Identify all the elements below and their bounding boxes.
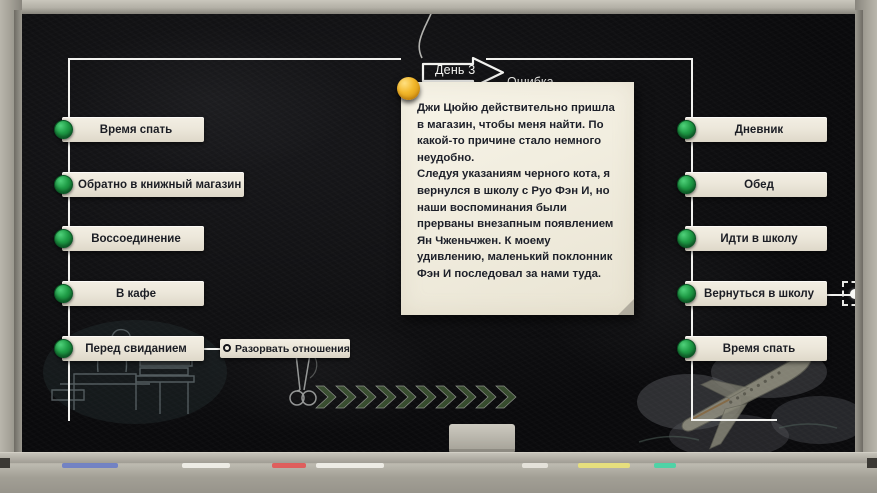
day-tag-label: День 3 xyxy=(435,63,475,77)
node-status-dot-icon xyxy=(677,284,696,303)
node-label: Время спать xyxy=(685,343,827,355)
hanging-string xyxy=(404,14,464,62)
board-frame-left-bevel xyxy=(14,10,22,460)
node-label: Время спать xyxy=(62,124,204,136)
chalk-ledge xyxy=(0,452,877,493)
node-status-dot-icon xyxy=(54,339,73,358)
node-label: В кафе xyxy=(62,288,204,300)
board-frame-right-bevel xyxy=(855,10,863,460)
chalk-blue[interactable] xyxy=(62,463,118,468)
board-frame-top xyxy=(0,0,877,14)
node-left-3[interactable]: Воссоединение xyxy=(62,226,204,251)
node-left-1[interactable]: Время спать xyxy=(62,117,204,142)
chalk-drawing-chevrons xyxy=(312,382,527,412)
node-label: Обратно в книжный магазин xyxy=(62,179,244,191)
radio-unselected-icon xyxy=(223,344,231,352)
branch-option-break-up[interactable]: Разорвать отношения xyxy=(220,339,350,358)
node-left-4[interactable]: В кафе xyxy=(62,281,204,306)
flow-line-top-right xyxy=(486,58,693,60)
chalk-drawing-scissors xyxy=(280,350,326,408)
node-status-dot-icon xyxy=(677,339,696,358)
flow-line-top-left xyxy=(68,58,401,60)
chalk-white2[interactable] xyxy=(316,463,384,468)
node-right-3[interactable]: Идти в школу xyxy=(685,226,827,251)
node-label: Воссоединение xyxy=(62,233,204,245)
chalk-smudge xyxy=(202,314,442,434)
memory-note-panel: Джи Цюйю действительно пришла в магазин,… xyxy=(401,82,634,315)
node-label: Дневник xyxy=(685,124,827,136)
board-eraser[interactable] xyxy=(449,424,515,452)
board-frame-right xyxy=(855,0,877,460)
chalk-ledge-lip xyxy=(0,452,877,463)
node-status-dot-icon xyxy=(677,175,696,194)
node-label: Обед xyxy=(685,179,827,191)
chalk-yellow[interactable] xyxy=(578,463,630,468)
locked-node-slot[interactable] xyxy=(842,281,855,306)
flow-line-right-foot xyxy=(691,419,777,421)
branch-option-label: Разорвать отношения xyxy=(220,343,350,355)
chalk-teal[interactable] xyxy=(654,463,676,468)
memory-note-text: Джи Цюйю действительно пришла в магазин,… xyxy=(417,100,618,283)
node-status-dot-icon xyxy=(677,120,696,139)
chalk-smudge xyxy=(62,24,362,174)
node-status-dot-icon xyxy=(54,284,73,303)
chalk-ledge-end-right xyxy=(867,458,877,468)
chalk-red[interactable] xyxy=(272,463,306,468)
node-status-dot-icon xyxy=(54,229,73,248)
node-right-4[interactable]: Вернуться в школу xyxy=(685,281,827,306)
chalk-ledge-end-left xyxy=(0,458,10,468)
note-pushpin-icon xyxy=(397,77,420,100)
node-label: Идти в школу xyxy=(685,233,827,245)
node-right-5[interactable]: Время спать xyxy=(685,336,827,361)
node-status-dot-icon xyxy=(54,120,73,139)
node-right-1[interactable]: Дневник xyxy=(685,117,827,142)
board-frame-left xyxy=(0,0,22,460)
node-label: Перед свиданием xyxy=(62,343,204,355)
node-right-2[interactable]: Обед xyxy=(685,172,827,197)
chalk-white3[interactable] xyxy=(522,463,548,468)
node-left-2[interactable]: Обратно в книжный магазин xyxy=(62,172,244,197)
node-status-dot-icon xyxy=(677,229,696,248)
node-status-dot-icon xyxy=(54,175,73,194)
node-left-5[interactable]: Перед свиданием xyxy=(62,336,204,361)
memory-flowchart-screen: День 3 Ошибка Время спать Обратно в книж… xyxy=(0,0,877,493)
chalk-white[interactable] xyxy=(182,463,230,468)
flow-line-left-foot xyxy=(68,419,70,421)
node-label: Вернуться в школу xyxy=(685,288,827,300)
